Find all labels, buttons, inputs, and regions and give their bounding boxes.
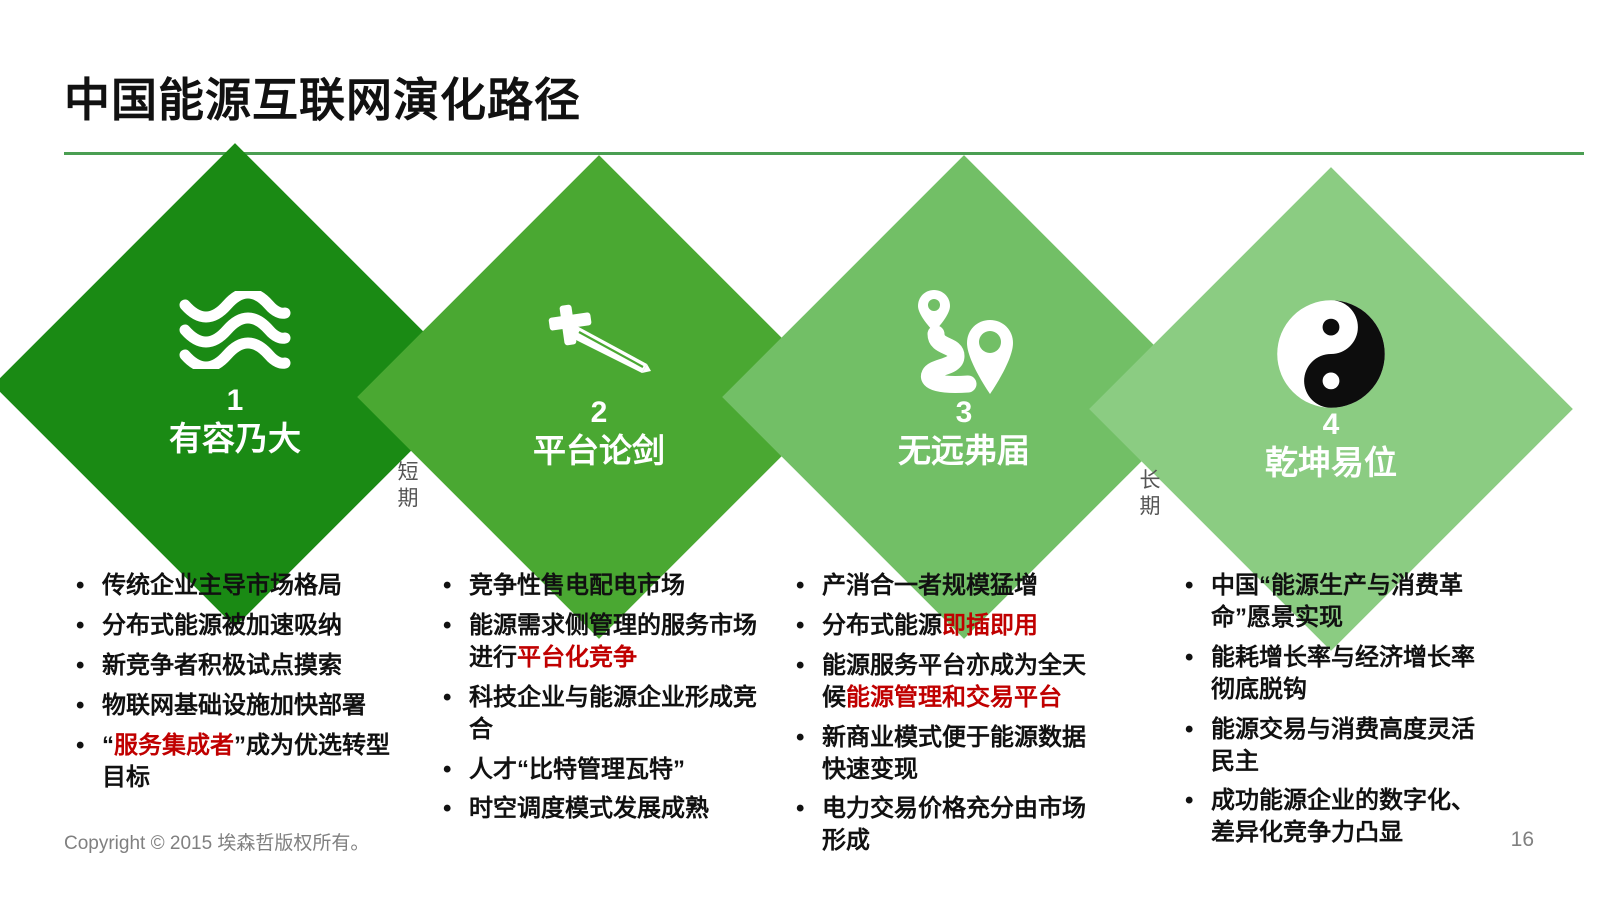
diamond-content-2: 2 平台论剑: [428, 226, 770, 568]
diamond-number-3: 3: [956, 396, 973, 431]
bullet-run: 能源交易与消费高度灵活民主: [1211, 716, 1475, 775]
bullet-run: “: [102, 732, 114, 759]
timeline-label-long-term: 长期: [1138, 468, 1162, 521]
bullet-dot-icon: •: [1185, 642, 1211, 674]
bullet-dot-icon: •: [796, 650, 822, 682]
bullet-text: 物联网基础设施加快部署: [102, 690, 396, 722]
bullet-item: •“服务集成者”成为优选转型目标: [76, 730, 396, 794]
bullet-column-3: •产消合一者规模猛增•分布式能源即插即用•能源服务平台亦成为全天候能源管理和交易…: [796, 570, 1096, 865]
sword-icon: [543, 292, 655, 392]
diamond-content-1: 1 有容乃大: [64, 214, 406, 556]
bullet-dot-icon: •: [76, 570, 102, 602]
diamond-label-2: 平台论剑: [533, 431, 665, 471]
bullet-item: •电力交易价格充分由市场形成: [796, 793, 1096, 857]
stage-diamond-1[interactable]: 1 有容乃大: [64, 214, 406, 556]
bullet-column-2: •竞争性售电配电市场•能源需求侧管理的服务市场进行平台化竞争•科技企业与能源企业…: [443, 570, 763, 833]
bullet-dot-icon: •: [1185, 785, 1211, 817]
bullet-dot-icon: •: [796, 610, 822, 642]
bullet-item: •产消合一者规模猛增: [796, 570, 1096, 602]
bullet-item: •时空调度模式发展成熟: [443, 793, 763, 825]
bullet-item: •传统企业主导市场格局: [76, 570, 396, 602]
bullet-item: •能耗增长率与经济增长率彻底脱钩: [1185, 642, 1485, 706]
bullet-item: •能源服务平台亦成为全天候能源管理和交易平台: [796, 650, 1096, 714]
waves-icon: [179, 280, 291, 380]
bullet-dot-icon: •: [443, 793, 469, 825]
bullet-columns: •传统企业主导市场格局•分布式能源被加速吸纳•新竞争者积极试点摸索•物联网基础设…: [0, 570, 1600, 850]
bullet-highlight: 服务集成者: [114, 732, 234, 759]
bullet-text: 能源需求侧管理的服务市场进行平台化竞争: [469, 610, 763, 674]
bullet-text: 成功能源企业的数字化、差异化竞争力凸显: [1211, 785, 1485, 849]
bullet-run: 新商业模式便于能源数据快速变现: [822, 724, 1086, 783]
stage-diamond-row: 1 有容乃大 2 平台论剑: [0, 196, 1600, 566]
page-title: 中国能源互联网演化路径: [64, 64, 581, 130]
bullet-text: 产消合一者规模猛增: [822, 570, 1096, 602]
bullet-item: •物联网基础设施加快部署: [76, 690, 396, 722]
diamond-content-3: 3 无远弗届: [793, 226, 1135, 568]
bullet-dot-icon: •: [76, 610, 102, 642]
bullet-run: 新竞争者积极试点摸索: [102, 652, 342, 679]
page-number: 16: [1511, 828, 1534, 852]
bullet-run: 产消合一者规模猛增: [822, 572, 1038, 599]
bullet-text: 电力交易价格充分由市场形成: [822, 793, 1096, 857]
bullet-dot-icon: •: [1185, 714, 1211, 746]
bullet-item: •中国“能源生产与消费革命”愿景实现: [1185, 570, 1485, 634]
bullet-text: “服务集成者”成为优选转型目标: [102, 730, 396, 794]
bullet-text: 时空调度模式发展成熟: [469, 793, 763, 825]
diamond-content-4: 4 乾坤易位: [1160, 238, 1502, 580]
bullet-item: •新商业模式便于能源数据快速变现: [796, 722, 1096, 786]
bullet-item: •分布式能源即插即用: [796, 610, 1096, 642]
bullet-item: •能源交易与消费高度灵活民主: [1185, 714, 1485, 778]
bullet-text: 能源服务平台亦成为全天候能源管理和交易平台: [822, 650, 1096, 714]
bullet-run: 人才“比特管理瓦特”: [469, 756, 685, 783]
diamond-number-2: 2: [591, 396, 608, 431]
diamond-label-3: 无远弗届: [898, 431, 1030, 471]
diamond-number-4: 4: [1323, 408, 1340, 443]
bullet-item: •新竞争者积极试点摸索: [76, 650, 396, 682]
bullet-run: 分布式能源被加速吸纳: [102, 612, 342, 639]
bullet-text: 分布式能源即插即用: [822, 610, 1096, 642]
bullet-column-1: •传统企业主导市场格局•分布式能源被加速吸纳•新竞争者积极试点摸索•物联网基础设…: [76, 570, 396, 801]
diamond-label-1: 有容乃大: [169, 419, 301, 459]
bullet-item: •分布式能源被加速吸纳: [76, 610, 396, 642]
bullet-column-4: •中国“能源生产与消费革命”愿景实现•能耗增长率与经济增长率彻底脱钩•能源交易与…: [1185, 570, 1485, 857]
bullet-item: •科技企业与能源企业形成竞合: [443, 682, 763, 746]
bullet-item: •人才“比特管理瓦特”: [443, 754, 763, 786]
bullet-run: 分布式能源: [822, 612, 942, 639]
bullet-run: 物联网基础设施加快部署: [102, 692, 366, 719]
bullet-run: 时空调度模式发展成熟: [469, 795, 709, 822]
route-pin-icon: [912, 292, 1016, 392]
stage-diamond-4[interactable]: 4 乾坤易位: [1160, 238, 1502, 580]
bullet-run: 中国“能源生产与消费革命”愿景实现: [1211, 572, 1463, 631]
bullet-dot-icon: •: [443, 754, 469, 786]
diamond-number-1: 1: [227, 384, 244, 419]
bullet-dot-icon: •: [443, 682, 469, 714]
timeline-label-short-term: 短期: [396, 460, 420, 513]
bullet-dot-icon: •: [796, 570, 822, 602]
bullet-dot-icon: •: [443, 570, 469, 602]
bullet-dot-icon: •: [796, 793, 822, 825]
bullet-text: 能源交易与消费高度灵活民主: [1211, 714, 1485, 778]
bullet-dot-icon: •: [76, 690, 102, 722]
bullet-run: 传统企业主导市场格局: [102, 572, 342, 599]
bullet-run: 能耗增长率与经济增长率彻底脱钩: [1211, 644, 1475, 703]
bullet-highlight: 能源管理和交易平台: [846, 684, 1062, 711]
bullet-text: 传统企业主导市场格局: [102, 570, 396, 602]
bullet-text: 竞争性售电配电市场: [469, 570, 763, 602]
title-divider: [64, 152, 1584, 155]
bullet-text: 新商业模式便于能源数据快速变现: [822, 722, 1096, 786]
bullet-text: 人才“比特管理瓦特”: [469, 754, 763, 786]
bullet-run: 科技企业与能源企业形成竞合: [469, 684, 757, 743]
bullet-dot-icon: •: [76, 650, 102, 682]
footer-copyright: Copyright © 2015 埃森哲版权所有。: [64, 828, 369, 855]
bullet-text: 分布式能源被加速吸纳: [102, 610, 396, 642]
bullet-highlight: 即插即用: [942, 612, 1038, 639]
stage-diamond-2[interactable]: 2 平台论剑: [428, 226, 770, 568]
bullet-run: 电力交易价格充分由市场形成: [822, 795, 1086, 854]
yin-yang-icon: [1275, 304, 1387, 404]
bullet-dot-icon: •: [76, 730, 102, 762]
bullet-item: •能源需求侧管理的服务市场进行平台化竞争: [443, 610, 763, 674]
bullet-dot-icon: •: [443, 610, 469, 642]
stage-diamond-3[interactable]: 3 无远弗届: [793, 226, 1135, 568]
bullet-run: 竞争性售电配电市场: [469, 572, 685, 599]
bullet-highlight: 平台化竞争: [517, 644, 637, 671]
diamond-label-4: 乾坤易位: [1265, 443, 1397, 483]
bullet-text: 中国“能源生产与消费革命”愿景实现: [1211, 570, 1485, 634]
bullet-run: 成功能源企业的数字化、差异化竞争力凸显: [1211, 787, 1475, 846]
bullet-text: 能耗增长率与经济增长率彻底脱钩: [1211, 642, 1485, 706]
bullet-item: •竞争性售电配电市场: [443, 570, 763, 602]
bullet-text: 新竞争者积极试点摸索: [102, 650, 396, 682]
bullet-text: 科技企业与能源企业形成竞合: [469, 682, 763, 746]
bullet-dot-icon: •: [1185, 570, 1211, 602]
bullet-dot-icon: •: [796, 722, 822, 754]
bullet-item: •成功能源企业的数字化、差异化竞争力凸显: [1185, 785, 1485, 849]
